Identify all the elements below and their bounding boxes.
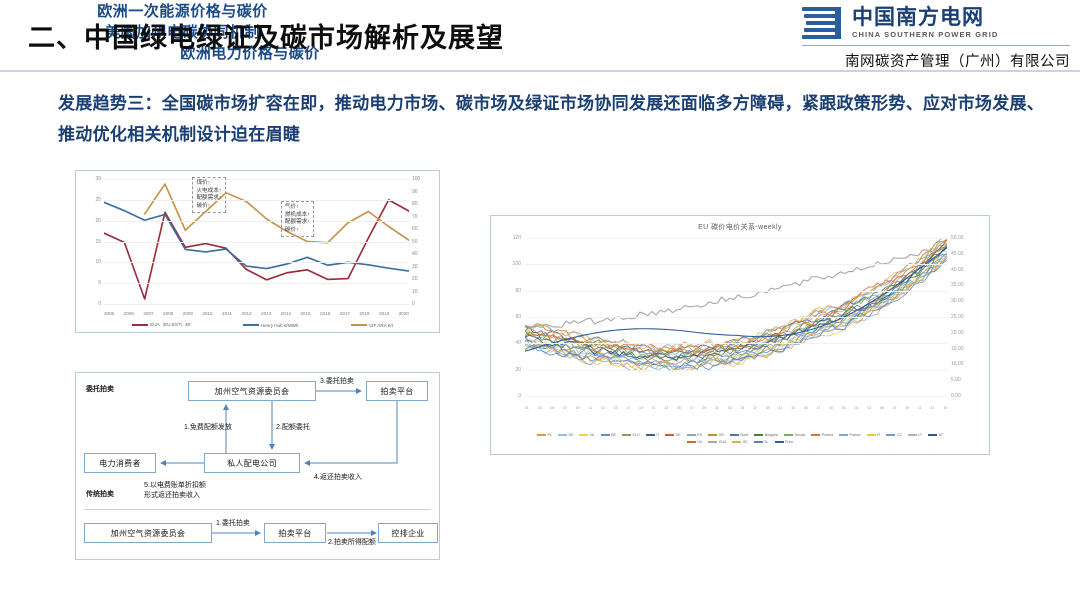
chart2-x-tick: 35: [740, 406, 744, 410]
chart1-x-tick: 2009: [183, 311, 193, 316]
chart2-x-tick: 01: [855, 406, 859, 410]
chart2-x-tick: 05: [550, 406, 554, 410]
diagram-node-auction-bottom: 拍卖平台: [264, 523, 326, 543]
chart2-x-tick: 39: [766, 406, 770, 410]
legend-label: CZ: [897, 433, 902, 437]
chart2-legend-item: Slovak: [784, 433, 805, 437]
chart2-legend-item: Poland: [811, 433, 833, 437]
chart1-ytick-right: 50: [412, 239, 418, 245]
chart2-legend-item: EUA: [708, 440, 726, 444]
legend-label: IT: [656, 433, 659, 437]
legend-label: Bulgaria: [765, 433, 778, 437]
chart2-x-axis-labels: 0103050709111315171921232527293133353739…: [525, 406, 947, 410]
chart1-x-tick: 2006: [124, 311, 134, 316]
chart2-legend-item: DK: [665, 433, 681, 437]
legend-swatch: [537, 434, 546, 435]
legend-label: CIF ARA €/t: [369, 323, 393, 328]
legend-swatch: [687, 434, 696, 435]
chart2-legend-item: Price: [775, 440, 794, 444]
legend-label: GR: [719, 433, 724, 437]
chart2-legend-item: SLO: [622, 433, 640, 437]
chart1-x-tick: 2013: [261, 311, 271, 316]
chart2-ytick: 40: [515, 340, 521, 346]
chart1-x-tick: 2015: [300, 311, 310, 316]
legend-label: Poland: [822, 433, 833, 437]
chart1-x-tick: 2008: [163, 311, 173, 316]
legend-label: Henry Hub €/MWh: [261, 323, 299, 328]
chart1-x-axis-labels: 2005200620072008200920102011201220132014…: [104, 311, 409, 316]
legend-swatch: [839, 434, 848, 435]
legend-label: DK: [676, 433, 681, 437]
chart-europe-primary-energy: 30 25 20 15 10 5 0 100 90 80 70 60 50 40…: [75, 170, 440, 333]
chart2-title: EU 碳价电价关系-weekly: [491, 222, 989, 232]
chart1-ytick: 10: [95, 259, 101, 265]
chart2-x-tick: 51: [842, 406, 846, 410]
chart2-x-tick: 21: [652, 406, 656, 410]
chart2-x-tick: 25: [677, 406, 681, 410]
chart2-x-tick: 03: [538, 406, 542, 410]
legend-swatch: [579, 434, 588, 435]
diagram-california-mechanism: 委托拍卖 加州空气资源委员会 拍卖平台 电力消费者 私人配电公司 1.免费配额发…: [75, 372, 440, 560]
chart2-legend-item: NL: [579, 433, 594, 437]
chart2-ytick-right: 15.00: [951, 346, 964, 352]
diagram-edge-6: 1.委托拍卖: [216, 519, 250, 528]
chart2-legend-item: HU: [687, 440, 703, 444]
chart2-legend-item: AT: [928, 433, 943, 437]
chart2-ytick: 80: [515, 288, 521, 294]
chart1-ytick-right: 0: [412, 301, 415, 307]
chart2-ytick-right: 10.00: [951, 361, 964, 367]
chart2-ytick-right: 35.00: [951, 282, 964, 288]
csg-grid-logo-icon: [802, 6, 844, 40]
legend-swatch: [132, 324, 148, 326]
annotation-line: 煤价↑: [196, 180, 221, 188]
chart2-x-tick: 19: [639, 406, 643, 410]
brand-divider: [802, 45, 1070, 46]
chart2-x-tick: 13: [931, 406, 935, 410]
legend-swatch: [687, 441, 696, 442]
chart1-ytick: 5: [98, 280, 101, 286]
chart2-x-tick: 37: [753, 406, 757, 410]
chart2-legend-item: CZ: [886, 433, 901, 437]
legend-label: NL: [590, 433, 595, 437]
chart2-x-tick: 33: [728, 406, 732, 410]
chart1-ytick-right: 40: [412, 251, 418, 257]
annotation-line: 气价↑: [285, 204, 310, 212]
chart2-ytick: 120: [513, 235, 521, 241]
legend-swatch: [784, 434, 793, 435]
chart1-ytick-right: 30: [412, 264, 418, 270]
chart2-ytick: 20: [515, 367, 521, 373]
annotation-line: 配额需求↑: [285, 219, 310, 227]
annotation-line: 碳价↑: [196, 203, 221, 211]
legend-swatch: [908, 434, 917, 435]
chart1-ytick: 20: [95, 218, 101, 224]
chart2-legend-item: BE: [601, 433, 616, 437]
chart2-x-tick: 43: [791, 406, 795, 410]
legend-swatch: [646, 434, 655, 435]
chart1-ytick-right: 100: [412, 176, 420, 182]
chart2-ytick: 100: [513, 261, 521, 267]
chart1-x-tick: 2007: [143, 311, 153, 316]
chart2-x-tick: 17: [626, 406, 630, 410]
chart1-ytick-right: 70: [412, 214, 418, 220]
diagram-node-covered-entity: 控排企业: [378, 523, 438, 543]
legend-swatch: [754, 441, 763, 442]
chart1-x-tick: 2014: [281, 311, 291, 316]
chart2-x-tick: 29: [702, 406, 706, 410]
slide-header: 二、中国绿电绿证及碳市场解析及展望 中国南方电网 CHINA SOUTHERN …: [0, 0, 1080, 72]
chart1-plot-area: 30 25 20 15 10 5 0 100 90 80 70 60 50 40…: [104, 179, 409, 304]
chart2-ytick-right: 5.00: [951, 377, 961, 383]
legend-label: Nord: [740, 433, 748, 437]
chart2-x-tick: 13: [601, 406, 605, 410]
chart2-ytick-right: 0.00: [951, 393, 961, 399]
chart2-ytick-right: 30.00: [951, 298, 964, 304]
chart2-ytick-right: 25.00: [951, 314, 964, 320]
diagram-edge-5b: 形式返还拍卖收入: [144, 491, 200, 500]
legend-label: PL: [548, 433, 552, 437]
chart1-ytick: 30: [95, 176, 101, 182]
legend-label: Price: [785, 440, 793, 444]
legend-swatch: [754, 434, 763, 435]
chart2-x-tick: 27: [690, 406, 694, 410]
page-title: 二、中国绿电绿证及碳市场解析及展望: [28, 16, 504, 55]
diagram-edge-1: 1.免费配额发放: [184, 423, 232, 432]
legend-swatch: [928, 434, 937, 435]
chart2-legend-item: FI: [867, 433, 881, 437]
chart2-x-tick: 47: [817, 406, 821, 410]
diagram-edge-7: 2.拍卖所得配额: [328, 538, 376, 547]
chart1-ytick: 15: [95, 239, 101, 245]
legend-swatch: [732, 441, 741, 442]
legend-swatch: [622, 434, 631, 435]
chart2-legend-item: Nord: [730, 433, 748, 437]
chart2-ytick-right: 40.00: [951, 267, 964, 273]
chart2-x-tick: 01: [525, 406, 529, 410]
legend-label: Slovak: [794, 433, 805, 437]
chart2-legend-item: SE: [732, 440, 747, 444]
legend-label: ES: [697, 433, 702, 437]
chart1-ytick-right: 60: [412, 226, 418, 232]
chart2-x-tick: 49: [829, 406, 833, 410]
chart2-x-tick: 15: [614, 406, 618, 410]
legend-label: BE: [611, 433, 616, 437]
chart1-x-tick: 2010: [202, 311, 212, 316]
chart2-legend: PLDENLBESLOITDKESGRNordBulgariaSlovakPol…: [537, 433, 943, 444]
legend-swatch: [708, 441, 717, 442]
legend-label: SE: [743, 440, 748, 444]
chart1-annotation-coal: 煤价↑火电成本↑配额需求↑碳价↑: [192, 177, 225, 213]
chart2-x-tick: 41: [779, 406, 783, 410]
chart2-x-tick: 07: [893, 406, 897, 410]
chart1-ytick-right: 10: [412, 289, 418, 295]
chart1-x-tick: 2017: [340, 311, 350, 316]
diagram-node-carb-bottom: 加州空气资源委员会: [84, 523, 212, 543]
legend-swatch: [558, 434, 567, 435]
legend-label: AT: [939, 433, 943, 437]
legend-swatch: [243, 324, 259, 326]
chart2-legend-item: DE: [558, 433, 574, 437]
chart-eu-carbon-power-weekly: EU 碳价电价关系-weekly 120 100 80 60 40 20 0 5…: [490, 215, 990, 455]
legend-swatch: [886, 434, 895, 435]
diagram-edge-3: 3.委托拍卖: [320, 377, 354, 386]
diagram-section2-label: 传统拍卖: [86, 490, 114, 499]
brand-subsidiary: 南网碳资产管理（广州）有限公司: [802, 50, 1070, 71]
chart1-legend-item: CIF ARA €/t: [351, 323, 393, 328]
chart1-ytick: 25: [95, 197, 101, 203]
legend-label: EUA（EU EST）€/t: [150, 322, 190, 328]
chart1-x-tick: 2016: [320, 311, 330, 316]
chart2-legend-item: IT: [646, 433, 660, 437]
chart1-legend: EUA（EU EST）€/tHenry Hub €/MWhCIF ARA €/t: [106, 322, 419, 328]
annotation-line: 火电成本↑: [196, 188, 221, 196]
chart2-legend-item: ES: [687, 433, 702, 437]
annotation-line: 配额需求↑: [196, 195, 221, 203]
diagram-section-divider: [84, 509, 431, 510]
chart2-x-tick: 05: [880, 406, 884, 410]
chart2-legend-item: SL: [754, 440, 769, 444]
chart2-ytick: 0: [518, 393, 521, 399]
legend-label: LT: [918, 433, 922, 437]
chart1-ytick-right: 80: [412, 201, 418, 207]
diagram-edge-4: 4.返还拍卖收入: [314, 473, 362, 482]
chart2-ytick-right: 50.00: [951, 235, 964, 241]
legend-swatch: [867, 434, 876, 435]
legend-swatch: [601, 434, 610, 435]
legend-label: FI: [877, 433, 880, 437]
chart2-x-tick: 11: [918, 406, 922, 410]
lead-paragraph: 发展趋势三：全国碳市场扩容在即，推动电力市场、碳市场及绿证市场协同发展还面临多方…: [58, 88, 1048, 151]
chart1-ytick-right: 90: [412, 189, 418, 195]
legend-swatch: [665, 434, 674, 435]
chart2-x-tick: 09: [905, 406, 909, 410]
annotation-line: 碳价↑: [285, 227, 310, 235]
chart2-x-tick: 31: [715, 406, 719, 410]
brand-name-en: CHINA SOUTHERN POWER GRID: [852, 30, 998, 39]
legend-swatch: [775, 441, 784, 442]
chart1-legend-item: Henry Hub €/MWh: [243, 323, 299, 328]
chart1-x-tick: 2019: [379, 311, 389, 316]
chart2-x-tick: 15: [943, 406, 947, 410]
chart1-ytick: 0: [98, 301, 101, 307]
legend-label: EUA: [719, 440, 726, 444]
legend-label: SL: [764, 440, 768, 444]
chart2-legend-item: Bulgaria: [754, 433, 778, 437]
chart1-annotation-gas: 气价↑燃机成本↑配额需求↑碳价↑: [281, 201, 314, 237]
annotation-line: 燃机成本↑: [285, 212, 310, 220]
legend-swatch: [708, 434, 717, 435]
legend-swatch: [811, 434, 820, 435]
brand-name-cn: 中国南方电网: [852, 7, 998, 29]
brand-block: 中国南方电网 CHINA SOUTHERN POWER GRID 南网碳资产管理…: [802, 6, 1070, 71]
chart2-legend-item: GR: [708, 433, 724, 437]
chart1-x-tick: 2011: [222, 311, 232, 316]
header-divider: [0, 70, 1080, 72]
chart2-x-tick: 09: [576, 406, 580, 410]
chart2-ytick-right: 45.00: [951, 251, 964, 257]
diagram-edge-2: 2.配额委托: [276, 423, 310, 432]
chart1-ytick-right: 20: [412, 276, 418, 282]
chart2-x-tick: 03: [867, 406, 871, 410]
chart2-ytick-right: 20.00: [951, 330, 964, 336]
legend-label: HU: [697, 440, 702, 444]
chart2-x-tick: 11: [588, 406, 592, 410]
chart1-x-tick: 2018: [359, 311, 369, 316]
chart1-x-tick: 2005: [104, 311, 114, 316]
chart1-legend-item: EUA（EU EST）€/t: [132, 322, 190, 328]
legend-swatch: [351, 324, 367, 326]
chart1-x-tick: 2012: [241, 311, 251, 316]
chart2-x-tick: 23: [664, 406, 668, 410]
legend-swatch: [730, 434, 739, 435]
chart2-ytick: 60: [515, 314, 521, 320]
legend-label: SLO: [632, 433, 639, 437]
chart1-x-tick: 2020: [399, 311, 409, 316]
legend-label: France: [849, 433, 860, 437]
diagram-edge-5a: 5.以电费账单折扣额: [144, 481, 206, 490]
chart2-x-tick: 07: [563, 406, 567, 410]
chart2-x-tick: 45: [804, 406, 808, 410]
chart2-legend-item: LT: [908, 433, 922, 437]
chart2-legend-item: France: [839, 433, 861, 437]
legend-label: DE: [568, 433, 573, 437]
chart2-plot-area: 120 100 80 60 40 20 0 50.00 45.00 40.00 …: [525, 238, 947, 396]
chart2-legend-item: PL: [537, 433, 552, 437]
